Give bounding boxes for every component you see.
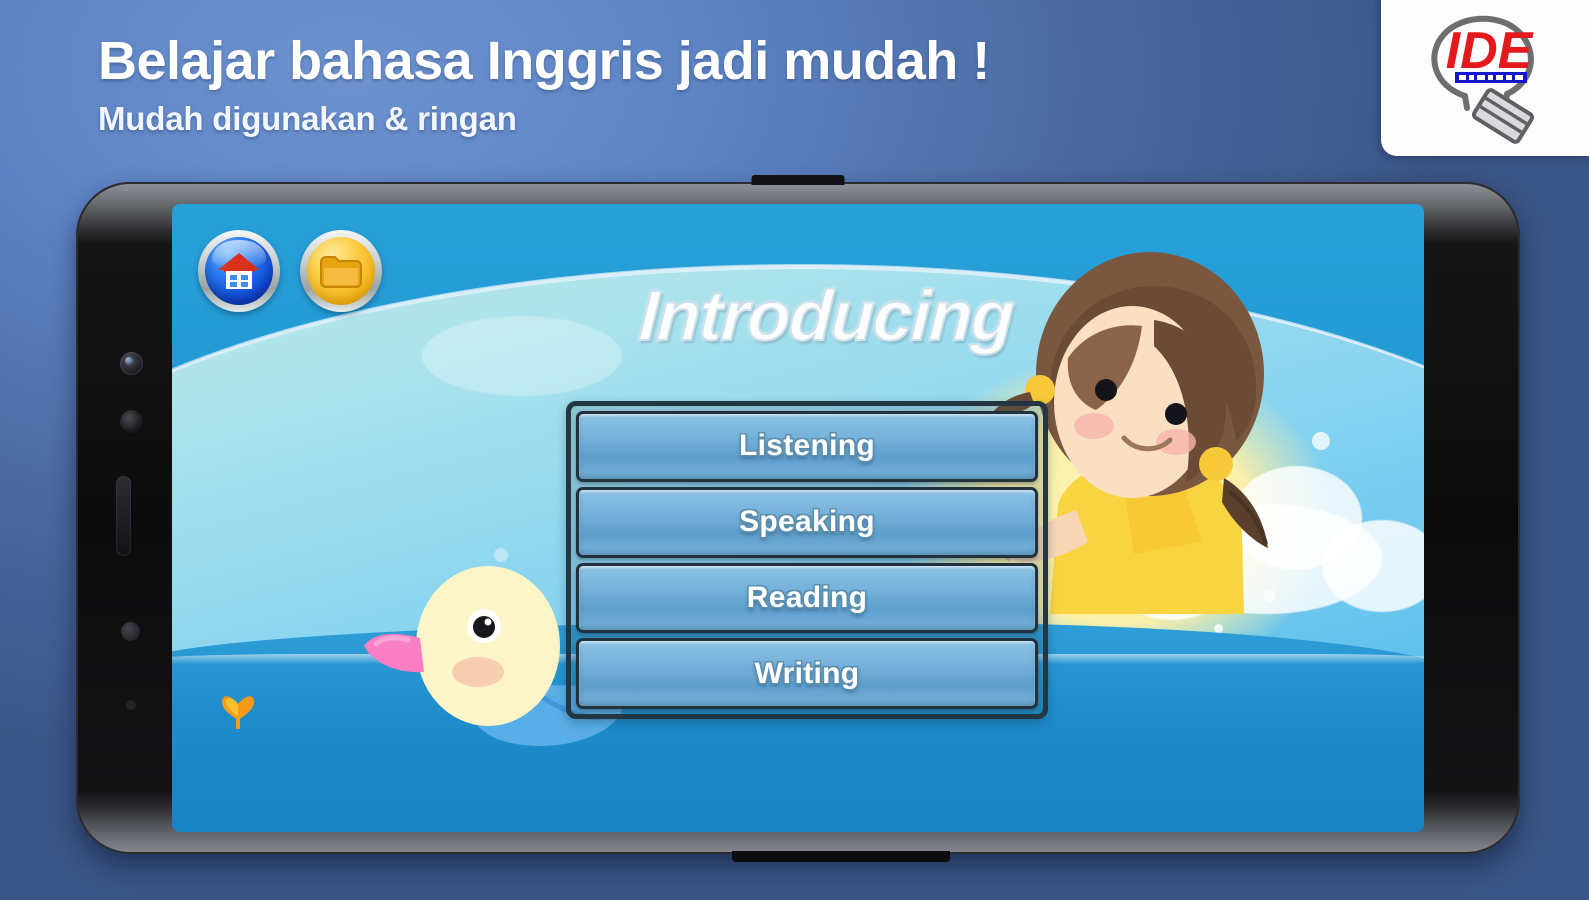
microphone-icon <box>121 622 140 641</box>
orb-face <box>205 237 273 305</box>
home-icon <box>216 250 262 292</box>
menu-item-reading[interactable]: Reading <box>576 563 1038 634</box>
proximity-sensor-icon <box>120 410 143 433</box>
app-screen: Introducing Listening Speaking Reading W… <box>172 204 1424 832</box>
phone-bottom-speaker <box>732 851 950 862</box>
brand-logo-card: IDE <box>1381 0 1589 156</box>
phone-top-speaker <box>752 175 845 185</box>
menu-item-writing[interactable]: Writing <box>576 638 1038 709</box>
lightbulb-icon: IDE <box>1407 0 1567 145</box>
promo-backdrop: Belajar bahasa Inggris jadi mudah ! Muda… <box>0 0 1589 900</box>
menu-item-listening[interactable]: Listening <box>576 411 1038 482</box>
menu-item-label: Speaking <box>739 505 875 539</box>
folder-icon <box>318 252 364 290</box>
orb-face <box>307 237 375 305</box>
menu-item-label: Listening <box>739 429 875 463</box>
front-camera-icon <box>120 352 143 375</box>
folder-button[interactable] <box>300 230 382 312</box>
menu-panel: Listening Speaking Reading Writing <box>566 401 1048 719</box>
menu-item-label: Writing <box>755 657 860 691</box>
promo-header: Belajar bahasa Inggris jadi mudah ! Muda… <box>98 32 1338 138</box>
home-button[interactable] <box>198 230 280 312</box>
screen-title: Introducing <box>614 276 1038 357</box>
cloud-shape <box>422 316 622 396</box>
menu-item-speaking[interactable]: Speaking <box>576 487 1038 558</box>
earpiece-grill <box>116 476 131 556</box>
heart-marker-icon <box>220 682 256 730</box>
phone-device-frame: Introducing Listening Speaking Reading W… <box>76 182 1520 854</box>
menu-item-label: Reading <box>747 581 867 615</box>
sensor-dot <box>126 700 136 710</box>
page-subtitle: Mudah digunakan & ringan <box>98 100 1338 138</box>
page-title: Belajar bahasa Inggris jadi mudah ! <box>98 32 1338 90</box>
brand-name: IDE <box>1446 22 1534 80</box>
